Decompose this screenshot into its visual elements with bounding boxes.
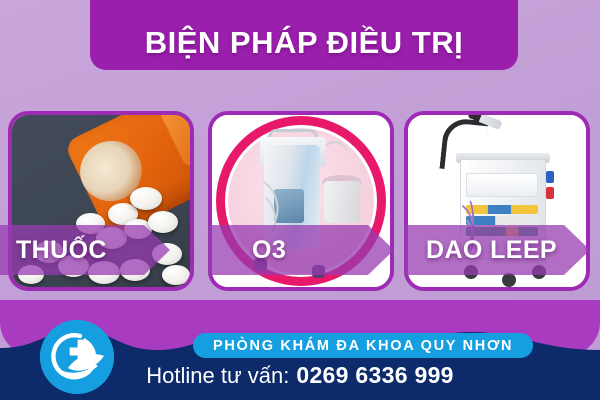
- treatment-label-band-ozone: O3: [208, 225, 394, 275]
- treatment-label-medication: THUỐC: [0, 236, 107, 265]
- machine-jar: [324, 181, 360, 223]
- treatment-label-band-leep: DAO LEEP: [404, 225, 590, 275]
- clinic-name: PHÒNG KHÁM ĐA KHOA QUY NHƠN: [213, 338, 513, 354]
- clinic-name-pill: PHÒNG KHÁM ĐA KHOA QUY NHƠN: [193, 333, 533, 358]
- page-title: BIỆN PHÁP ĐIỀU TRỊ: [145, 25, 463, 61]
- poster-root: BIỆN PHÁP ĐIỀU TRỊ: [0, 0, 600, 400]
- hotline-label: Hotline tư vấn:: [146, 363, 289, 389]
- treatment-label-leep: DAO LEEP: [404, 236, 557, 265]
- title-banner: BIỆN PHÁP ĐIỀU TRỊ: [90, 0, 518, 70]
- hotline-row: Hotline tư vấn: 0269 6336 999: [0, 362, 600, 389]
- leep-drawer: [466, 173, 538, 197]
- treatment-label-ozone: O3: [208, 236, 286, 265]
- treatment-label-band-medication: THUỐC: [0, 225, 170, 275]
- hotline-number[interactable]: 0269 6336 999: [296, 362, 453, 389]
